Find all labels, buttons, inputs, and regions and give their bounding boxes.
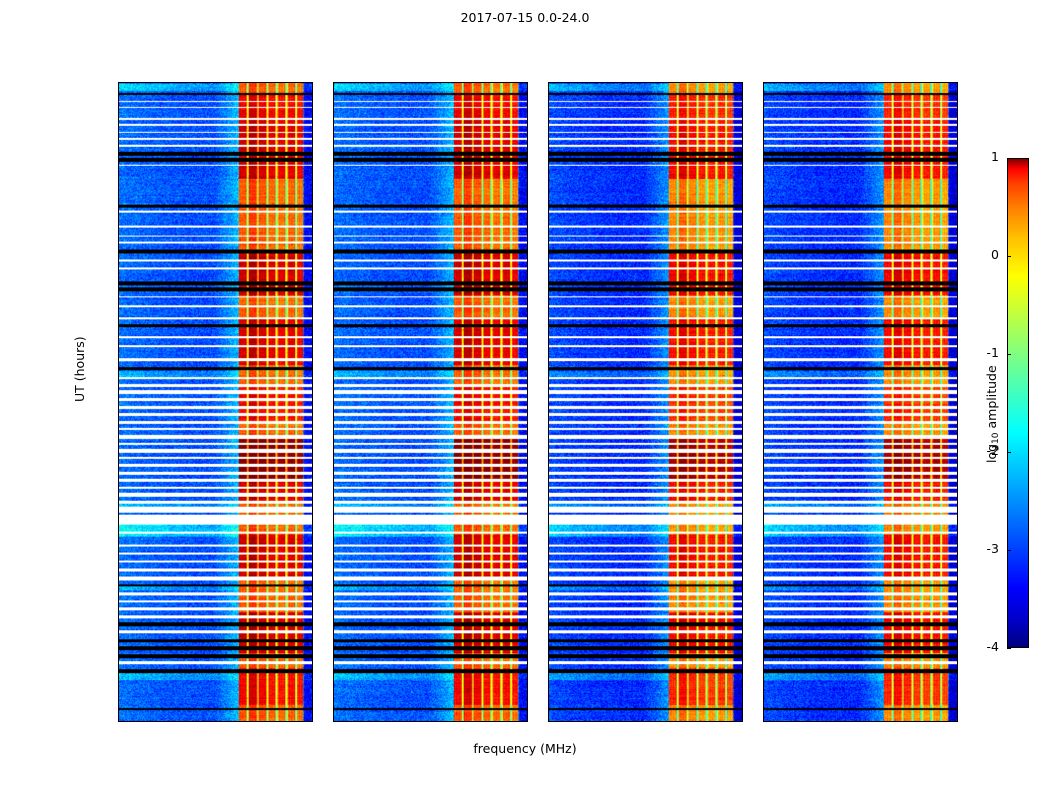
colorbar-label-prefix: log (984, 444, 999, 463)
colorbar-tick-label: 1 (991, 149, 999, 164)
figure-canvas: 2017-07-15 0.0-24.0 XX, V2*V11=EA12*EA14… (0, 0, 1050, 800)
colorbar-tick-mark (1007, 256, 1011, 257)
colorbar-label: log10 amplitude (984, 365, 1001, 463)
spectrum-panel-yy[interactable]: YY, V2*V11=EA12*EA1432033535036538005101… (333, 82, 528, 722)
figure-suptitle: 2017-07-15 0.0-24.0 (0, 10, 1050, 25)
colorbar-tick-mark (1007, 354, 1011, 355)
x-axis-label: frequency (MHz) (0, 741, 1050, 756)
colorbar-tick-label: -4 (987, 639, 999, 654)
colorbar-tick-mark (1007, 550, 1011, 551)
dynamic-spectrum-image-xx (119, 83, 312, 721)
colorbar-label-suffix: amplitude (984, 365, 999, 432)
dynamic-spectrum-image-xy (549, 83, 742, 721)
dynamic-spectrum-image-yy (334, 83, 527, 721)
colorbar-tick-mark (1007, 158, 1011, 159)
colorbar-tick-label: 0 (991, 247, 999, 262)
spectrum-panel-xx[interactable]: XX, V2*V11=EA12*EA1432033535036538005101… (118, 82, 313, 722)
colorbar-tick-mark (1007, 648, 1011, 649)
dynamic-spectrum-image-yx (764, 83, 957, 721)
spectrum-panel-yx[interactable]: YX, V2*V11=EA12*EA1432033535036538005101… (763, 82, 958, 722)
colorbar: -4-3-2-101 (1007, 158, 1029, 648)
colorbar-label-sub: 10 (991, 432, 1001, 443)
colorbar-tick-mark (1007, 452, 1011, 453)
y-axis-label: UT (hours) (72, 336, 87, 402)
spectrum-panel-xy[interactable]: XY, V2*V11=EA12*EA1432033535036538005101… (548, 82, 743, 722)
colorbar-tick-label: -1 (987, 345, 999, 360)
colorbar-tick-label: -3 (987, 541, 999, 556)
colorbar-gradient (1007, 158, 1029, 648)
